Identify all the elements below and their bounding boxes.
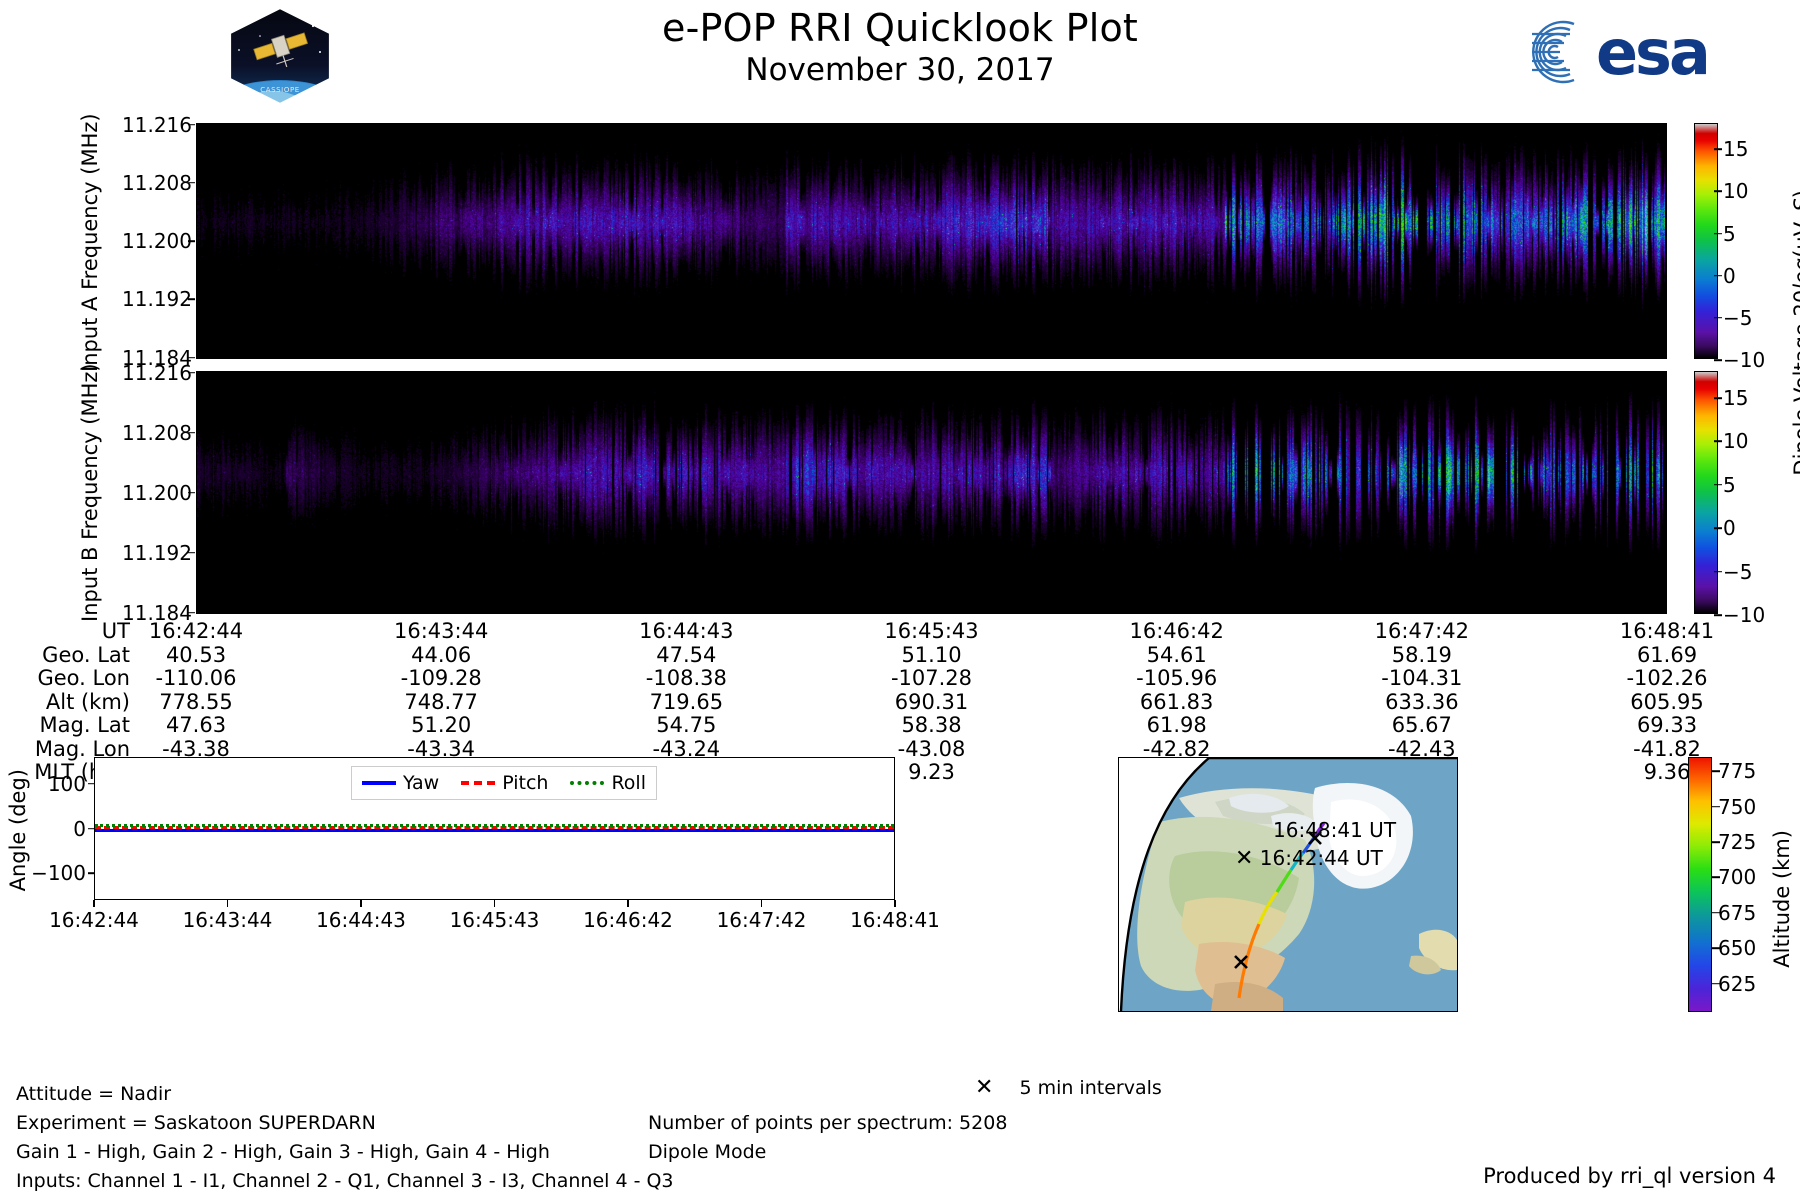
param-value: 51.10 — [901, 644, 961, 668]
legend-item-yaw: Yaw — [362, 772, 439, 794]
spectrogram-input-b — [196, 371, 1667, 614]
attitude-xtick: 16:43:44 — [183, 908, 273, 932]
altitude-colorbar-tick-mark — [1712, 983, 1720, 985]
altitude-colorbar-label: Altitude (km) — [1770, 830, 1794, 972]
param-row-values: 40.5344.0647.5451.1054.6158.1961.69 — [130, 644, 1800, 668]
map-end-time-label: 16:48:41 UT — [1273, 818, 1396, 842]
input-a-ytick-column: 11.21611.20811.20011.19211.184 — [100, 123, 192, 359]
altitude-colorbar-tick-mark — [1712, 806, 1720, 808]
spectrogram-ytick: 11.192 — [122, 287, 192, 311]
spectrogram-ytick: 11.216 — [122, 361, 192, 385]
colorbar-tick: 5 — [1723, 473, 1736, 497]
colorbar-tick-mark — [1714, 571, 1722, 573]
cross-marker-icon: ✕ — [975, 1075, 993, 1100]
colorbar-tick-mark — [1714, 359, 1722, 361]
param-value: 661.83 — [1140, 691, 1213, 715]
param-value: 16:45:43 — [884, 620, 978, 644]
esa-logo-icon: esa — [1530, 16, 1760, 86]
spectrogram-ytick-mark — [188, 492, 195, 494]
spectrogram-ytick-mark — [188, 552, 195, 554]
param-row-label: Alt (km) — [0, 691, 130, 715]
colorbar-tick: 15 — [1723, 386, 1748, 410]
param-row-values: 778.55748.77719.65690.31661.83633.36605.… — [130, 691, 1800, 715]
footer-inputs: Inputs: Channel 1 - I1, Channel 2 - Q1, … — [16, 1170, 674, 1192]
colorbar-tick-mark — [1714, 441, 1722, 443]
marker-legend-text: 5 min intervals — [1019, 1077, 1161, 1099]
colorbar-tick-mark — [1714, 527, 1722, 529]
altitude-colorbar-tick-mark — [1712, 912, 1720, 914]
param-row: Geo. Lon-110.06-109.28-108.38-107.28-105… — [0, 667, 1800, 691]
colorbar-input-b: 151050−5−10 — [1694, 371, 1718, 614]
altitude-colorbar-tick: 625 — [1718, 972, 1756, 996]
param-value: 47.63 — [166, 714, 226, 738]
attitude-xtick: 16:48:41 — [850, 908, 940, 932]
param-value: 9.23 — [908, 761, 955, 785]
param-value: -110.06 — [155, 667, 236, 691]
spectrogram-ytick-mark — [188, 357, 195, 359]
param-value: 9.36 — [1644, 761, 1691, 785]
param-row-label: Mag. Lat — [0, 714, 130, 738]
spectrogram-ytick-mark — [188, 612, 195, 614]
attitude-legend: Yaw Pitch Roll — [351, 766, 657, 800]
altitude-colorbar-tick: 750 — [1718, 795, 1756, 819]
colorbar-tick: −5 — [1723, 306, 1752, 330]
legend-label-yaw: Yaw — [403, 772, 439, 794]
param-value: 65.67 — [1392, 714, 1452, 738]
param-value: 16:48:41 — [1620, 620, 1714, 644]
param-value: -104.31 — [1381, 667, 1462, 691]
legend-swatch-pitch — [461, 781, 495, 785]
map-marker-legend: ✕ 5 min intervals — [975, 1075, 1162, 1100]
param-value: 58.19 — [1392, 644, 1452, 668]
param-row-values: 47.6351.2054.7558.3861.9865.6769.33 — [130, 714, 1800, 738]
trace-yaw — [95, 829, 894, 832]
colorbar-input-a: 151050−5−10 — [1694, 123, 1718, 359]
param-value: -105.96 — [1136, 667, 1217, 691]
param-row-label: Geo. Lat — [0, 644, 130, 668]
legend-item-pitch: Pitch — [461, 772, 548, 794]
trace-roll — [95, 824, 894, 827]
esa-wordmark: esa — [1596, 16, 1708, 88]
colorbar-tick-mark — [1714, 191, 1722, 193]
altitude-colorbar-tick-mark — [1712, 841, 1720, 843]
param-row-label: Geo. Lon — [0, 667, 130, 691]
colorbar-tick-mark — [1714, 614, 1722, 616]
spectrogram-ytick-mark — [188, 298, 195, 300]
param-value: 54.75 — [656, 714, 716, 738]
altitude-colorbar-label-text: Altitude (km) — [1770, 830, 1794, 968]
attitude-xtick: 16:45:43 — [450, 908, 540, 932]
input-b-ylabel: Input B Frequency (MHz) — [78, 383, 102, 603]
param-value: 719.65 — [650, 691, 723, 715]
altitude-colorbar-tick: 675 — [1718, 901, 1756, 925]
cassiope-logo-icon: CASSIOPE — [225, 6, 335, 106]
altitude-colorbar-tick: 725 — [1718, 830, 1756, 854]
param-value: 748.77 — [404, 691, 477, 715]
legend-swatch-yaw — [362, 781, 396, 785]
altitude-colorbar-tick: 700 — [1718, 865, 1756, 889]
spectrogram-ytick-mark — [188, 124, 195, 126]
spectrogram-ytick: 11.200 — [122, 229, 192, 253]
spectrogram-ytick-mark — [188, 240, 195, 242]
colorbar-tick: 10 — [1723, 179, 1748, 203]
input-a-ylabel: Input A Frequency (MHz) — [78, 135, 102, 350]
attitude-ytick: −100 — [26, 861, 86, 885]
altitude-colorbar-tick: 775 — [1718, 759, 1756, 783]
param-value: -102.26 — [1626, 667, 1707, 691]
colorbar-tick: 15 — [1723, 137, 1748, 161]
param-value: 61.69 — [1637, 644, 1697, 668]
param-value: 69.33 — [1637, 714, 1697, 738]
footer-experiment: Experiment = Saskatoon SUPERDARN — [16, 1112, 376, 1134]
param-row-values: -110.06-109.28-108.38-107.28-105.96-104.… — [130, 667, 1800, 691]
attitude-ytick: 100 — [26, 772, 86, 796]
altitude-colorbar — [1688, 757, 1712, 1012]
spectrogram-input-a — [196, 123, 1667, 359]
param-value: 16:47:42 — [1375, 620, 1469, 644]
attitude-ytick: 0 — [26, 817, 86, 841]
attitude-xtick-mark — [761, 900, 763, 907]
param-value: 44.06 — [411, 644, 471, 668]
param-row: Mag. Lat47.6351.2054.7558.3861.9865.6769… — [0, 714, 1800, 738]
footer-gains: Gain 1 - High, Gain 2 - High, Gain 3 - H… — [16, 1141, 550, 1163]
altitude-colorbar-tick-mark — [1712, 947, 1720, 949]
spectrogram-ytick: 11.200 — [122, 481, 192, 505]
param-value: 16:44:43 — [639, 620, 733, 644]
param-value: 16:46:42 — [1129, 620, 1223, 644]
spectrogram-ytick: 11.216 — [122, 113, 192, 137]
legend-swatch-roll — [570, 781, 604, 785]
param-value: 605.95 — [1630, 691, 1703, 715]
legend-item-roll: Roll — [570, 772, 646, 794]
altitude-colorbar-tick-mark — [1712, 877, 1720, 879]
attitude-ytick-mark — [88, 828, 95, 830]
param-value: 633.36 — [1385, 691, 1458, 715]
colorbar-tick-mark — [1714, 397, 1722, 399]
attitude-xtick-mark — [894, 900, 896, 907]
footer-points-per-spectrum: Number of points per spectrum: 5208 — [648, 1112, 1007, 1134]
attitude-xtick-mark — [494, 900, 496, 907]
param-value: 778.55 — [159, 691, 232, 715]
ground-track-map — [1118, 757, 1458, 1012]
param-row: UT16:42:4416:43:4416:44:4316:45:4316:46:… — [0, 620, 1800, 644]
param-row-values: 16:42:4416:43:4416:44:4316:45:4316:46:42… — [130, 620, 1800, 644]
param-value: 40.53 — [166, 644, 226, 668]
map-start-time-label: ✕ 16:42:44 UT — [1235, 846, 1383, 871]
colorbar-tick-mark — [1714, 233, 1722, 235]
spectrogram-ytick: 11.192 — [122, 541, 192, 565]
spectrogram-ytick-mark — [188, 182, 195, 184]
legend-label-roll: Roll — [611, 772, 646, 794]
param-value: -108.38 — [646, 667, 727, 691]
param-value: 47.54 — [656, 644, 716, 668]
colorbar-tick: 0 — [1723, 516, 1736, 540]
footer-dipole-mode: Dipole Mode — [648, 1141, 766, 1163]
footer-attitude: Attitude = Nadir — [16, 1083, 171, 1105]
attitude-xtick-mark — [93, 900, 95, 907]
spectrogram-ytick-mark — [188, 432, 195, 434]
colorbar-tick-mark — [1714, 317, 1722, 319]
attitude-xtick-mark — [227, 900, 229, 907]
param-value: 51.20 — [411, 714, 471, 738]
param-value: 54.61 — [1147, 644, 1207, 668]
attitude-xtick-mark — [360, 900, 362, 907]
colorbar-tick: 0 — [1723, 264, 1736, 288]
altitude-colorbar-tick-mark — [1712, 770, 1720, 772]
spectrogram-ytick-mark — [188, 372, 195, 374]
produced-by-text: Produced by rri_ql version 4 — [1483, 1164, 1776, 1188]
colorbar-tick-mark — [1714, 484, 1722, 486]
spectrogram-ytick: 11.208 — [122, 421, 192, 445]
param-value: 16:43:44 — [394, 620, 488, 644]
spectrogram-ytick: 11.208 — [122, 171, 192, 195]
param-row: Geo. Lat40.5344.0647.5451.1054.6158.1961… — [0, 644, 1800, 668]
altitude-colorbar-tick: 650 — [1718, 936, 1756, 960]
attitude-xtick-mark — [627, 900, 629, 907]
param-value: -107.28 — [891, 667, 972, 691]
cassiope-logo-caption: CASSIOPE — [260, 86, 300, 94]
attitude-xtick: 16:46:42 — [583, 908, 673, 932]
attitude-xtick: 16:42:44 — [49, 908, 139, 932]
param-value: -109.28 — [401, 667, 482, 691]
attitude-xtick: 16:44:43 — [316, 908, 406, 932]
attitude-ytick-mark — [88, 872, 95, 874]
attitude-xtick: 16:47:42 — [717, 908, 807, 932]
colorbar-tick: −10 — [1723, 348, 1765, 372]
legend-label-pitch: Pitch — [502, 772, 548, 794]
param-value: 61.98 — [1147, 714, 1207, 738]
colorbar-tick-mark — [1714, 275, 1722, 277]
colorbar-tick: −5 — [1723, 560, 1752, 584]
param-row: Alt (km)778.55748.77719.65690.31661.8363… — [0, 691, 1800, 715]
param-value: 16:42:44 — [149, 620, 243, 644]
map-start-time-text: 16:42:44 UT — [1260, 846, 1383, 870]
attitude-ytick-mark — [88, 783, 95, 785]
colorbar-tick: 5 — [1723, 222, 1736, 246]
input-b-ytick-column: 11.21611.20811.20011.19211.184 — [100, 371, 192, 614]
colorbar-tick-mark — [1714, 148, 1722, 150]
colorbar-tick: 10 — [1723, 429, 1748, 453]
param-value: -43.08 — [898, 738, 966, 762]
colorbar-axis-label: Dipole Voltage 20log(µVBS) — [1790, 190, 1800, 480]
param-value: 690.31 — [895, 691, 968, 715]
param-value: 58.38 — [901, 714, 961, 738]
param-row-label: UT — [0, 620, 130, 644]
